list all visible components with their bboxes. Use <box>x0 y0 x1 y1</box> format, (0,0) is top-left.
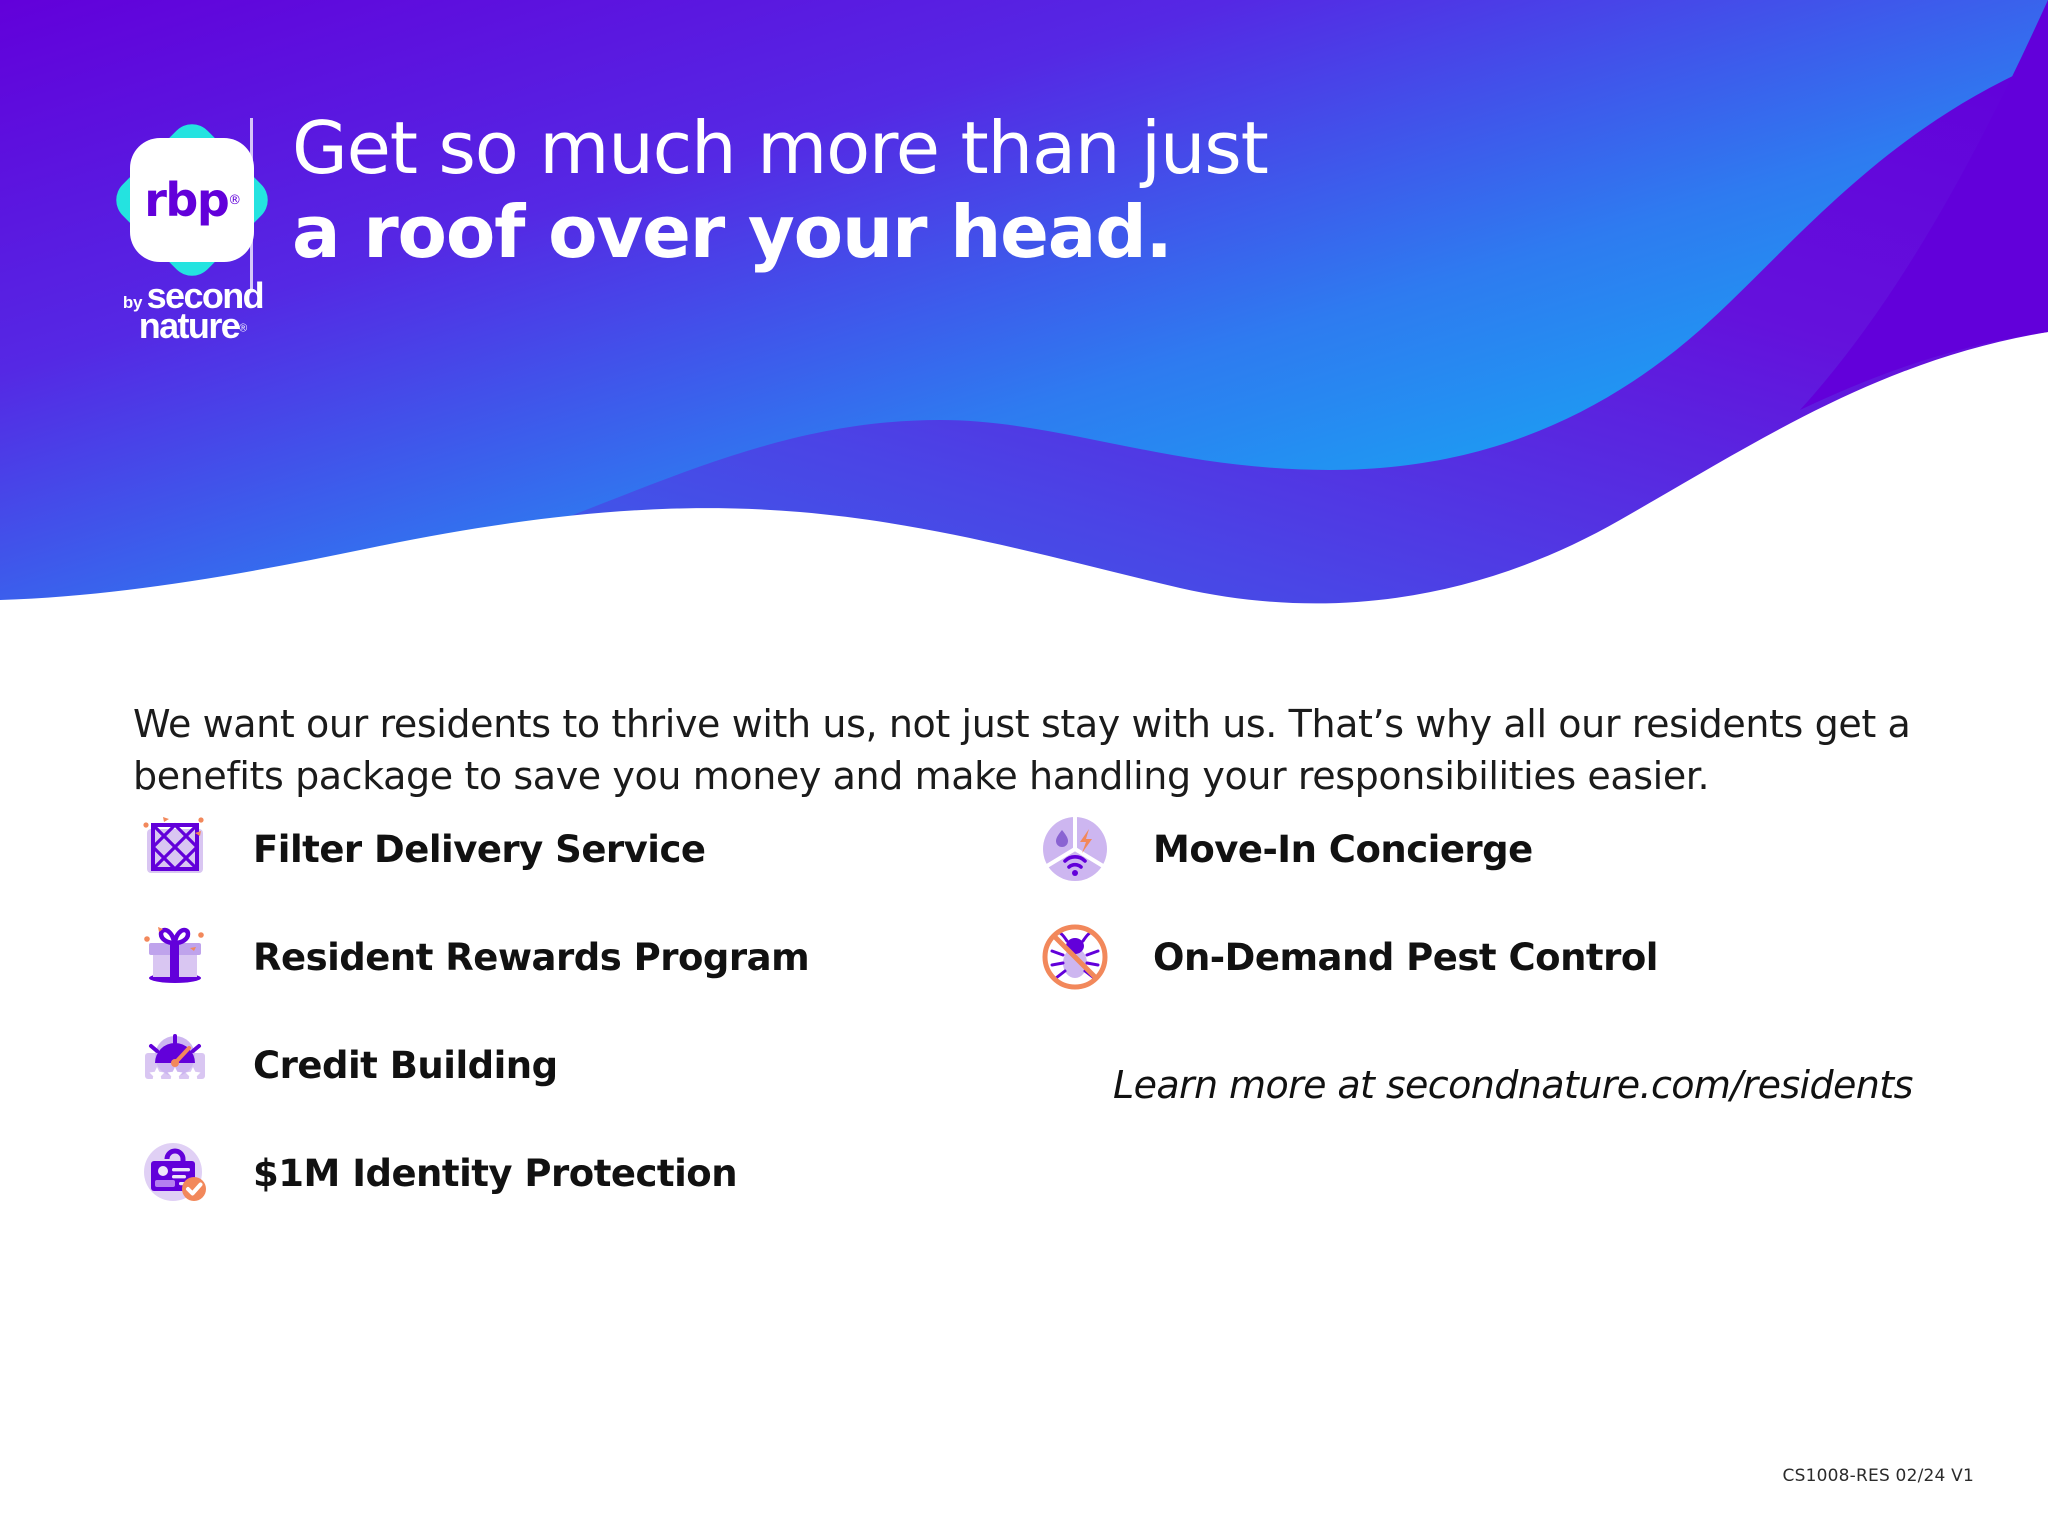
utilities-wheel-icon <box>1039 813 1111 885</box>
intro-paragraph: We want our residents to thrive with us,… <box>133 698 1923 803</box>
no-pest-icon <box>1039 921 1111 993</box>
benefits-section: Filter Delivery Service Resident Rewards <box>133 795 1933 1227</box>
rbp-trademark: ® <box>228 193 240 208</box>
benefit-label: $1M Identity Protection <box>253 1152 737 1195</box>
headline-line-2: a roof over your head. <box>292 194 1268 272</box>
rbp-wordmark: rbp® <box>122 130 262 270</box>
benefit-item-identity-protection: $1M Identity Protection <box>133 1119 1033 1227</box>
gift-box-icon <box>139 921 211 993</box>
benefit-item-resident-rewards: Resident Rewards Program <box>133 903 1033 1011</box>
benefit-item-filter-delivery: Filter Delivery Service <box>133 795 1033 903</box>
header-banner: rbp® by second nature® Get so much more … <box>0 0 2048 620</box>
benefit-label: Filter Delivery Service <box>253 828 706 871</box>
page-title: Get so much more than just a roof over y… <box>292 110 1268 272</box>
document-code: CS1008-RES 02/24 V1 <box>1783 1466 1974 1486</box>
benefits-column-left: Filter Delivery Service Resident Rewards <box>133 795 1033 1227</box>
id-badge-icon <box>139 1137 211 1209</box>
byline-nature: nature <box>139 308 239 344</box>
benefits-column-right: Move-In Concierge <box>1033 795 1933 1227</box>
air-filter-icon <box>139 813 211 885</box>
benefit-item-move-in-concierge: Move-In Concierge <box>1033 795 1933 903</box>
benefit-item-credit-building: Credit Building <box>133 1011 1033 1119</box>
learn-more-link[interactable]: Learn more at secondnature.com/residents <box>1113 1063 1933 1107</box>
benefit-label: Resident Rewards Program <box>253 936 809 979</box>
logo-headline-divider <box>250 118 253 290</box>
rbp-logo-icon: rbp® <box>122 130 262 270</box>
rbp-wordmark-text: rbp <box>144 173 228 227</box>
benefit-label: Move-In Concierge <box>1153 828 1533 871</box>
credit-gauge-icon <box>139 1029 211 1101</box>
byline-trademark: ® <box>239 323 247 335</box>
headline-line-1: Get so much more than just <box>292 110 1268 188</box>
benefit-item-pest-control: On-Demand Pest Control <box>1033 903 1933 1011</box>
benefit-label: Credit Building <box>253 1044 558 1087</box>
benefit-label: On-Demand Pest Control <box>1153 936 1658 979</box>
